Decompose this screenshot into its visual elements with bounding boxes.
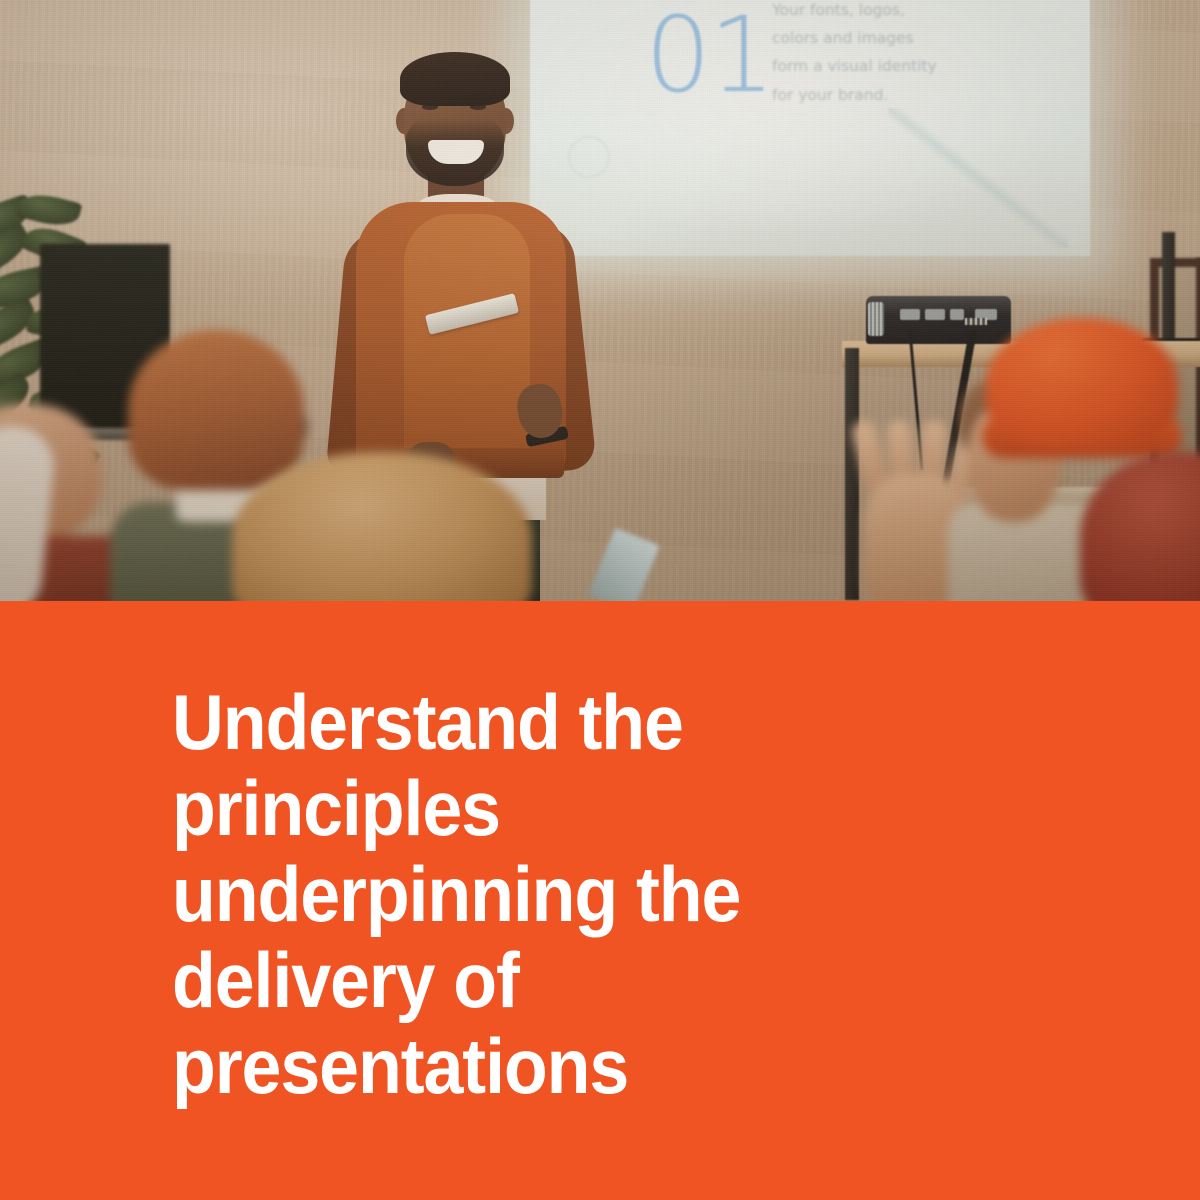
orange-caption-band: Understand the principles underpinning t…	[0, 601, 1200, 1200]
presenter-sweater-panel	[404, 214, 530, 464]
headline-text: Understand the principles underpinning t…	[172, 679, 1074, 1109]
audience-member-left	[0, 404, 122, 601]
hero-photo: 01 Your fonts, logos, colors and images …	[0, 0, 1200, 601]
audience-member-maroon-beanie	[1080, 452, 1200, 601]
projector-vent	[868, 302, 884, 336]
slide-decoration-line	[888, 108, 1068, 248]
audience-member-blonde	[232, 452, 532, 601]
presenter-smile	[428, 140, 484, 164]
presenter-hair	[400, 52, 510, 106]
projector-port-1	[900, 309, 920, 320]
slide-body-text: Your fonts, logos, colors and images for…	[772, 0, 1002, 109]
slide-number: 01	[645, 0, 773, 120]
projector-port-2	[925, 309, 945, 320]
course-card: 01 Your fonts, logos, colors and images …	[0, 0, 1200, 1200]
